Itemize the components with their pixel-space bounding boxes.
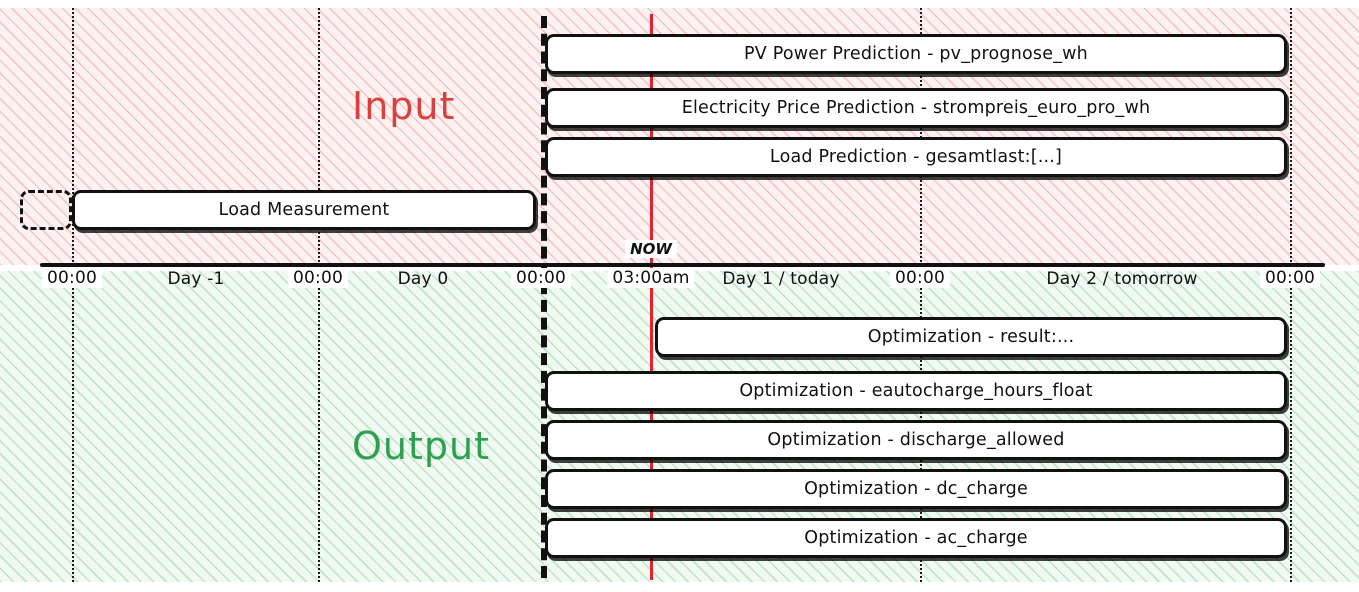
- axis-tick-1: 00:00: [288, 268, 348, 288]
- axis-tick-3: 03:00am: [607, 268, 694, 288]
- output-bar[interactable]: Optimization - dc_charge: [545, 469, 1287, 509]
- axis-tick-5: 00:00: [1260, 268, 1320, 288]
- axis-tick-4: 00:00: [890, 268, 950, 288]
- day-gridline-3: [1290, 8, 1292, 582]
- day-gridline-1: [318, 8, 320, 582]
- input-placeholder-bar[interactable]: [20, 190, 72, 230]
- input-bar-label: Load Measurement: [219, 200, 390, 220]
- output-bar-label: Optimization - result:...: [868, 327, 1074, 347]
- input-bar-label: Electricity Price Prediction - stromprei…: [682, 98, 1151, 118]
- timeline-diagram: 00:0000:0000:0003:00am00:0000:00 Day -1D…: [0, 0, 1359, 592]
- axis-day-label-1: Day 0: [398, 269, 449, 289]
- axis-tick-2: 00:00: [511, 268, 571, 288]
- input-bar[interactable]: Load Measurement: [72, 190, 536, 230]
- axis-day-label-2: Day 1 / today: [722, 269, 839, 289]
- axis-tick-0: 00:00: [42, 268, 102, 288]
- input-bar[interactable]: Load Prediction - gesamtlast:[...]: [545, 137, 1287, 177]
- input-bar-label: PV Power Prediction - pv_prognose_wh: [744, 44, 1088, 64]
- input-section-title: Input: [352, 84, 455, 128]
- output-bar-label: Optimization - ac_charge: [804, 528, 1027, 548]
- output-bar[interactable]: Optimization - ac_charge: [545, 518, 1287, 558]
- axis-day-label-3: Day 2 / tomorrow: [1046, 269, 1197, 289]
- input-bar-label: Load Prediction - gesamtlast:[...]: [770, 147, 1062, 167]
- output-bar[interactable]: Optimization - result:...: [655, 317, 1287, 357]
- axis-day-label-0: Day -1: [167, 269, 224, 289]
- time-axis: [40, 263, 1325, 267]
- now-label: NOW: [625, 240, 677, 258]
- input-bar[interactable]: Electricity Price Prediction - stromprei…: [545, 88, 1287, 128]
- output-section-title: Output: [352, 424, 490, 468]
- input-bar[interactable]: PV Power Prediction - pv_prognose_wh: [545, 34, 1287, 74]
- day-gridline-0: [72, 8, 74, 582]
- output-bar[interactable]: Optimization - eautocharge_hours_float: [545, 371, 1287, 411]
- output-bar-label: Optimization - dc_charge: [804, 479, 1028, 499]
- output-bar[interactable]: Optimization - discharge_allowed: [545, 420, 1287, 460]
- output-bar-label: Optimization - eautocharge_hours_float: [739, 381, 1092, 401]
- output-bar-label: Optimization - discharge_allowed: [767, 430, 1064, 450]
